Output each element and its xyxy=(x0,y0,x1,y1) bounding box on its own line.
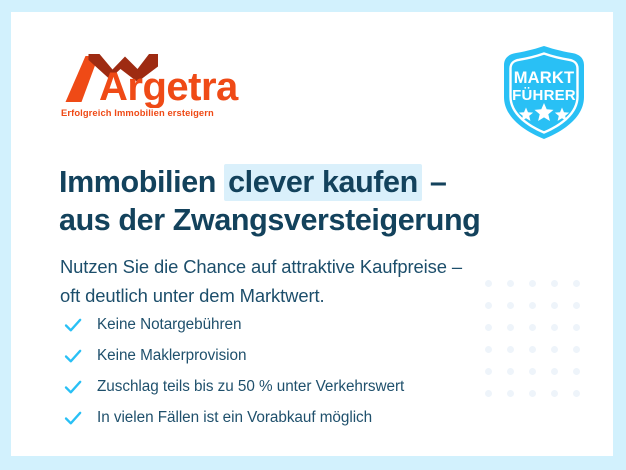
check-icon xyxy=(63,346,83,366)
dot xyxy=(573,368,580,375)
benefit-list: Keine Notargebühren Keine Maklerprovisio… xyxy=(63,309,533,433)
check-icon xyxy=(63,377,83,397)
argetra-logo-mark: Argetra xyxy=(57,50,257,108)
dot xyxy=(551,390,558,397)
list-item-label: Keine Maklerprovision xyxy=(97,347,246,365)
dot xyxy=(573,302,580,309)
dot xyxy=(551,368,558,375)
shield-icon: MARKT FÜHRER xyxy=(498,45,590,141)
list-item: Zuschlag teils bis zu 50 % unter Verkehr… xyxy=(63,371,533,402)
dot xyxy=(573,390,580,397)
list-item-label: Zuschlag teils bis zu 50 % unter Verkehr… xyxy=(97,378,404,396)
promo-banner: Argetra Erfolgreich Immobilien ersteiger… xyxy=(0,0,626,470)
check-icon xyxy=(63,408,83,428)
subheadline-line2: oft deutlich unter dem Marktwert. xyxy=(60,285,325,306)
headline-line1-after: – xyxy=(422,165,447,199)
logo-tagline: Erfolgreich Immobilien ersteigern xyxy=(61,107,214,118)
dot xyxy=(551,346,558,353)
banner-card: Argetra Erfolgreich Immobilien ersteiger… xyxy=(11,12,613,456)
headline-line1-before: Immobilien xyxy=(59,165,224,199)
markt-fuehrer-badge: MARKT FÜHRER xyxy=(498,45,590,141)
subheadline-line1: Nutzen Sie die Chance auf attraktive Kau… xyxy=(60,256,462,277)
page-title: Immobilien clever kaufen – aus der Zwang… xyxy=(59,163,559,239)
list-item: In vielen Fällen ist ein Vorabkauf mögli… xyxy=(63,402,533,433)
headline-line2: aus der Zwangsversteigerung xyxy=(59,203,480,237)
dot xyxy=(573,346,580,353)
list-item: Keine Notargebühren xyxy=(63,309,533,340)
list-item-label: Keine Notargebühren xyxy=(97,316,241,334)
svg-text:Argetra: Argetra xyxy=(99,65,239,108)
argetra-logo[interactable]: Argetra Erfolgreich Immobilien ersteiger… xyxy=(57,50,257,128)
check-icon xyxy=(63,315,83,335)
badge-line1: MARKT xyxy=(514,69,575,87)
badge-line2: FÜHRER xyxy=(512,87,576,104)
list-item: Keine Maklerprovision xyxy=(63,340,533,371)
headline-highlight: clever kaufen xyxy=(224,164,422,201)
dot xyxy=(551,324,558,331)
dot xyxy=(573,324,580,331)
list-item-label: In vielen Fällen ist ein Vorabkauf mögli… xyxy=(97,409,372,427)
subheadline: Nutzen Sie die Chance auf attraktive Kau… xyxy=(60,252,570,310)
dot xyxy=(573,280,580,287)
